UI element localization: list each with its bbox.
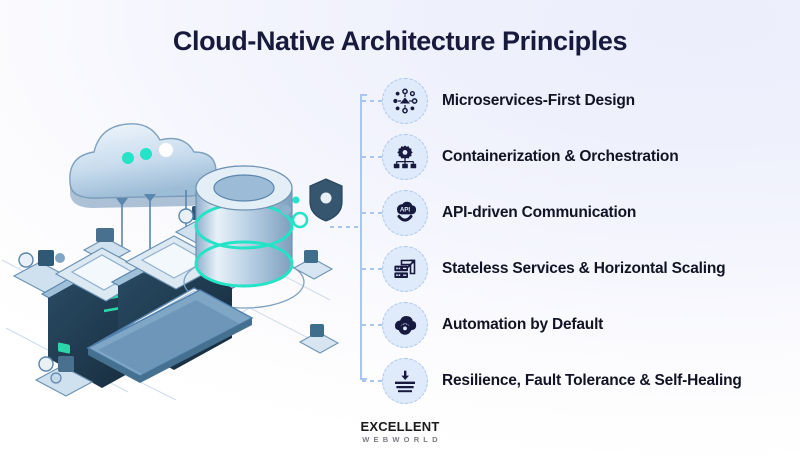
row-connector-icon (362, 380, 382, 382)
cloud-shape (70, 124, 216, 208)
microservices-network-icon (382, 78, 428, 124)
server-scale-arrow-icon (382, 246, 428, 292)
brand-logo[interactable]: EXCELLENT WEBWORLD (0, 420, 800, 445)
principle-row-4[interactable]: Stateless Services & Horizontal Scaling (352, 246, 792, 292)
principle-row-5[interactable]: Automation by Default (352, 302, 792, 348)
api-cloud-icon: API (382, 190, 428, 236)
principle-label: Microservices-First Design (442, 92, 635, 110)
layers-download-icon (382, 358, 428, 404)
svg-text:API: API (400, 207, 411, 214)
page-title: Cloud-Native Architecture Principles (0, 26, 800, 57)
cloud-gear-automation-icon (382, 302, 428, 348)
principle-row-6[interactable]: Resilience, Fault Tolerance & Self-Heali… (352, 358, 792, 404)
principle-row-3[interactable]: API API-driven Communication (352, 190, 792, 236)
infographic-canvas: Cloud-Native Architecture Principles (0, 0, 800, 470)
row-connector-icon (362, 212, 382, 214)
principle-row-1[interactable]: Microservices-First Design (352, 78, 792, 124)
principle-label: Automation by Default (442, 316, 603, 334)
logo-line-2: WEBWORLD (4, 434, 800, 445)
principle-label: API-driven Communication (442, 204, 636, 222)
row-connector-icon (362, 100, 382, 102)
principle-row-2[interactable]: Containerization & Orchestration (352, 134, 792, 180)
row-connector-icon (362, 268, 382, 270)
row-connector-icon (362, 324, 382, 326)
logo-line-1: EXCELLENT (0, 420, 800, 434)
isometric-cloud-illustration (0, 60, 350, 400)
row-connector-icon (362, 156, 382, 158)
principle-label: Resilience, Fault Tolerance & Self-Heali… (442, 372, 742, 390)
principle-label: Containerization & Orchestration (442, 148, 678, 166)
gear-containers-icon (382, 134, 428, 180)
principle-label: Stateless Services & Horizontal Scaling (442, 260, 725, 278)
principles-list: Microservices-First Design (352, 78, 792, 396)
